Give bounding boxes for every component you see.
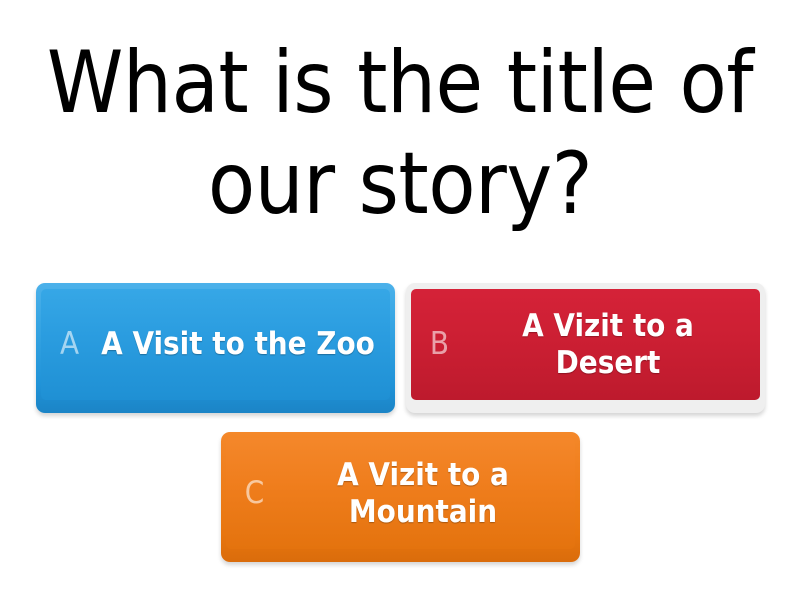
- answer-option-b[interactable]: B A Vizit to a Desert: [406, 283, 765, 413]
- answer-letter-c: C: [226, 478, 284, 509]
- question-text: What is the title of our story?: [20, 33, 780, 236]
- question-area: What is the title of our story?: [0, 0, 800, 268]
- quiz-stage: What is the title of our story? A A Visi…: [0, 0, 800, 600]
- answer-letter-b: B: [411, 329, 469, 360]
- answer-letter-a: A: [41, 329, 99, 360]
- answer-option-c-face: C A Vizit to a Mountain: [226, 438, 575, 549]
- answer-option-c[interactable]: C A Vizit to a Mountain: [221, 432, 580, 562]
- answer-row-top: A A Visit to the Zoo B A Vizit to a Dese…: [0, 268, 800, 413]
- answer-option-b-face: B A Vizit to a Desert: [411, 289, 760, 400]
- answer-option-a-face: A A Visit to the Zoo: [41, 289, 390, 400]
- answer-label-c: A Vizit to a Mountain: [284, 457, 575, 530]
- answer-label-a: A Visit to the Zoo: [99, 326, 390, 363]
- answer-row-bottom: C A Vizit to a Mountain: [0, 413, 800, 562]
- answer-options: A A Visit to the Zoo B A Vizit to a Dese…: [0, 268, 800, 600]
- answer-option-a[interactable]: A A Visit to the Zoo: [36, 283, 395, 413]
- answer-label-b: A Vizit to a Desert: [469, 308, 760, 381]
